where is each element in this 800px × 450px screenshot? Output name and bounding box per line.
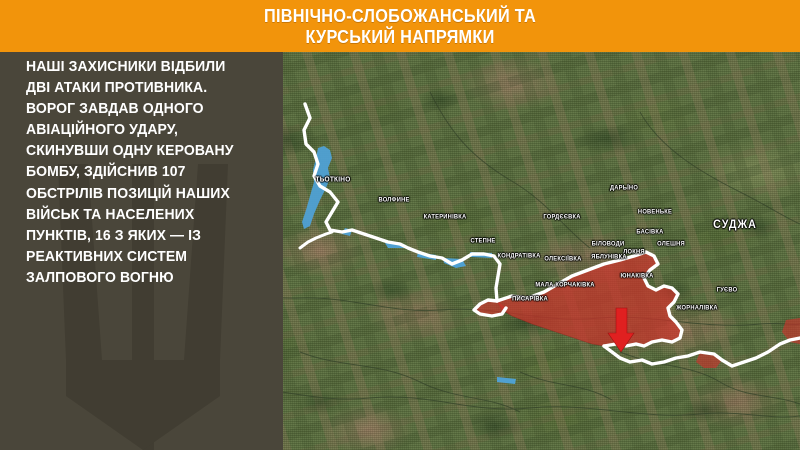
summary-line: БОМБУ, ЗДІЙСНИВ 107 xyxy=(26,162,264,183)
place-label-huevo[interactable]: ГУЄВО xyxy=(717,287,738,294)
summary-panel: НАШІ ЗАХИСНИКИ ВІДБИЛИ ДВІ АТАКИ ПРОТИВН… xyxy=(0,52,283,450)
occupied-zone xyxy=(474,252,800,368)
summary-line: РЕАКТИВНИХ СИСТЕМ xyxy=(26,247,264,268)
summary-line: ЗАЛПОВОГО ВОГНЮ xyxy=(26,268,264,289)
summary-line: ДВІ АТАКИ ПРОТИВНИКА. xyxy=(26,78,264,99)
summary-line: ВОРОГ ЗАВДАВ ОДНОГО xyxy=(26,99,264,120)
page-title-line-2: КУРСЬКИЙ НАПРЯМКИ xyxy=(48,26,752,47)
place-label-oleshnia[interactable]: ОЛЕШНЯ xyxy=(657,241,685,248)
summary-text: НАШІ ЗАХИСНИКИ ВІДБИЛИ ДВІ АТАКИ ПРОТИВН… xyxy=(26,57,264,289)
place-label-yunakivka[interactable]: ЮНАКІВКА xyxy=(620,273,653,280)
place-label-stepne[interactable]: СТЕПНЕ xyxy=(471,238,496,245)
summary-line: АВІАЦІЙНОГО УДАРУ, xyxy=(26,120,264,141)
place-label-bilovody[interactable]: БІЛОВОДИ xyxy=(592,241,625,248)
place-label-hordeevka[interactable]: ГОРДЄЄВКА xyxy=(543,214,580,221)
place-label-zhornalivka[interactable]: ЖОРНАЛІВКА xyxy=(676,305,718,312)
header-bar: ПІВНІЧНО-СЛОБОЖАНСЬКИЙ ТА КУРСЬКИЙ НАПРЯ… xyxy=(0,0,800,52)
summary-line: СКИНУВШИ ОДНУ КЕРОВАНУ xyxy=(26,141,264,162)
place-label-pysarivka[interactable]: ПИСАРІВКА xyxy=(512,296,548,303)
place-label-kondrativka[interactable]: КОНДРАТІВКА xyxy=(498,253,541,260)
place-label-yablunivka[interactable]: ЯБЛУНІВКА xyxy=(591,254,626,261)
place-label-tyotkino[interactable]: ТЬОТКІНО xyxy=(315,177,350,184)
summary-line: ОБСТРІЛІВ ПОЗИЦІЙ НАШИХ xyxy=(26,184,264,205)
summary-line: ВІЙСЬК ТА НАСЕЛЕНИХ xyxy=(26,205,264,226)
place-label-daryino[interactable]: ДАРЬЇНО xyxy=(610,185,638,192)
place-label-basivka[interactable]: БАСІВКА xyxy=(636,229,663,236)
border-line-secondary xyxy=(300,232,332,248)
place-label-sudzha[interactable]: СУДЖА xyxy=(713,219,757,231)
place-label-oleksiivka[interactable]: ОЛЕКСІЇВКА xyxy=(544,256,581,263)
page-title: ПІВНІЧНО-СЛОБОЖАНСЬКИЙ ТА КУРСЬКИЙ НАПРЯ… xyxy=(48,5,752,47)
page-title-line-1: ПІВНІЧНО-СЛОБОЖАНСЬКИЙ ТА xyxy=(48,5,752,26)
place-label-katerynivka[interactable]: КАТЕРИНІВКА xyxy=(424,214,467,221)
infographic-canvas: ТЬОТКІНО ВОЛФИНЕ КАТЕРИНІВКА СТЕПНЕ КОНД… xyxy=(0,0,800,450)
place-label-volfyne[interactable]: ВОЛФИНЕ xyxy=(378,197,409,204)
place-label-novenke[interactable]: НОВЕНЬКЕ xyxy=(638,209,672,216)
place-label-mala-korchakivka[interactable]: МАЛА КОРЧАКІВКА xyxy=(535,282,594,289)
summary-line: НАШІ ЗАХИСНИКИ ВІДБИЛИ xyxy=(26,57,264,78)
summary-line: ПУНКТІВ, 16 З ЯКИХ — ІЗ xyxy=(26,226,264,247)
